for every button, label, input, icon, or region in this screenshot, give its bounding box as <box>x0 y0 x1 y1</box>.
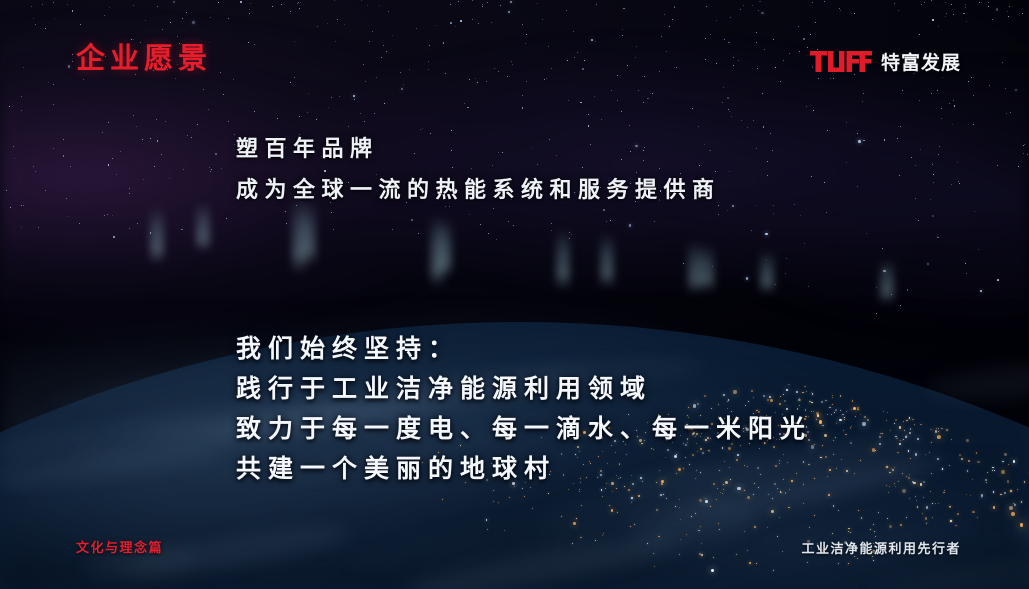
creed-statement: 我们始终坚持： 践行于工业洁净能源利用领域 致力于每一度电、每一滴水、每一米阳光… <box>236 329 812 489</box>
creed-line: 我们始终坚持： <box>236 329 812 369</box>
creed-line: 共建一个美丽的地球村 <box>236 449 812 489</box>
creed-line: 践行于工业洁净能源利用领域 <box>236 369 812 409</box>
footer-tagline: 工业洁净能源利用先行者 <box>801 538 961 557</box>
presentation-slide: 企业愿景 特富发展 塑百年 <box>0 0 1029 589</box>
company-logo: 特富发展 <box>810 48 961 75</box>
page-title: 企业愿景 <box>76 45 212 74</box>
tuff-wordmark-icon <box>810 51 872 72</box>
logo-chinese-name: 特富发展 <box>881 48 961 75</box>
vision-line: 塑百年品牌 <box>236 128 721 169</box>
vision-line: 成为全球一流的热能系统和服务提供商 <box>236 169 721 210</box>
creed-line: 致力于每一度电、每一滴水、每一米阳光 <box>236 409 812 449</box>
vision-statement: 塑百年品牌 成为全球一流的热能系统和服务提供商 <box>236 128 721 210</box>
footer-section-label: 文化与理念篇 <box>76 537 163 556</box>
